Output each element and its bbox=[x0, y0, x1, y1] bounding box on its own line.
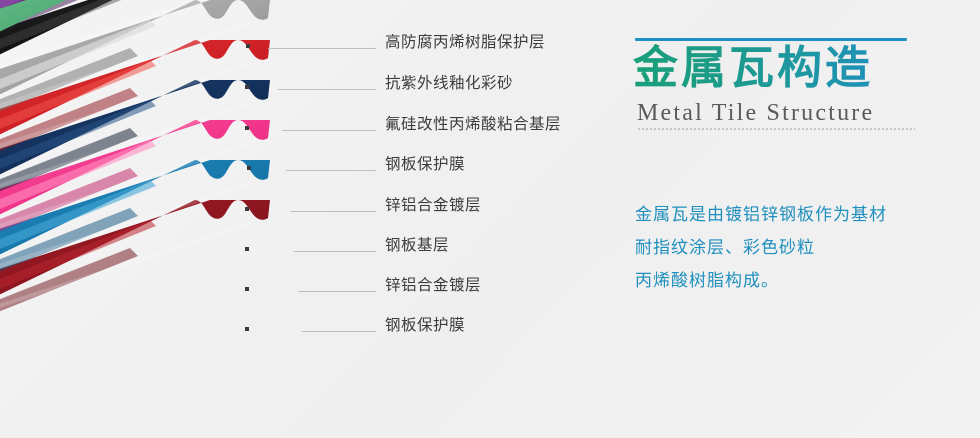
callout-dot-8 bbox=[245, 327, 249, 331]
callout-label-8: 钢板保护膜 bbox=[385, 318, 465, 334]
callout-line-8 bbox=[302, 331, 376, 332]
callout-line-4 bbox=[286, 170, 376, 171]
panel-title-cn: 金属瓦构造 bbox=[633, 44, 953, 91]
callout-label-6: 钢板基层 bbox=[385, 238, 449, 254]
callout-line-3 bbox=[282, 130, 376, 131]
callout-dot-5 bbox=[245, 207, 249, 211]
callout-label-2: 抗紫外线釉化彩砂 bbox=[385, 76, 513, 92]
callout-line-1 bbox=[268, 48, 376, 49]
body-line-3: 丙烯酸树脂构成。 bbox=[635, 264, 965, 297]
callout-line-6 bbox=[294, 251, 376, 252]
callout-dot-4 bbox=[247, 166, 251, 170]
panel-dotted-rule bbox=[637, 128, 915, 130]
callout-line-7 bbox=[298, 291, 376, 292]
callout-line-5 bbox=[290, 211, 376, 212]
callout-dot-6 bbox=[245, 247, 249, 251]
callout-dot-1 bbox=[246, 44, 250, 48]
info-panel: 金属瓦构造 Metal Tile Structure 金属瓦是由镀铝锌钢板作为基… bbox=[625, 0, 955, 438]
callout-label-3: 氟硅改性丙烯酸粘合基层 bbox=[385, 117, 561, 133]
body-line-2: 耐指纹涂层、彩色砂粒 bbox=[635, 231, 965, 264]
callout-label-5: 锌铝合金镀层 bbox=[385, 198, 481, 214]
body-line-1: 金属瓦是由镀铝锌钢板作为基材 bbox=[635, 198, 965, 231]
panel-title-en: Metal Tile Structure bbox=[637, 100, 874, 127]
panel-body-copy: 金属瓦是由镀铝锌钢板作为基材 耐指纹涂层、彩色砂粒 丙烯酸树脂构成。 bbox=[635, 198, 965, 297]
callout-dot-7 bbox=[245, 287, 249, 291]
callout-dot-3 bbox=[245, 126, 249, 130]
callout-line-2 bbox=[278, 89, 376, 90]
metal-tile-illustration bbox=[0, 0, 360, 438]
callout-label-1: 高防腐丙烯树脂保护层 bbox=[385, 35, 545, 51]
callout-label-4: 钢板保护膜 bbox=[385, 157, 465, 173]
poster-canvas: 高防腐丙烯树脂保护层 抗紫外线釉化彩砂 氟硅改性丙烯酸粘合基层 钢板保护膜 锌铝… bbox=[0, 0, 980, 438]
callout-label-7: 锌铝合金镀层 bbox=[385, 278, 481, 294]
callout-dot-2 bbox=[245, 85, 249, 89]
